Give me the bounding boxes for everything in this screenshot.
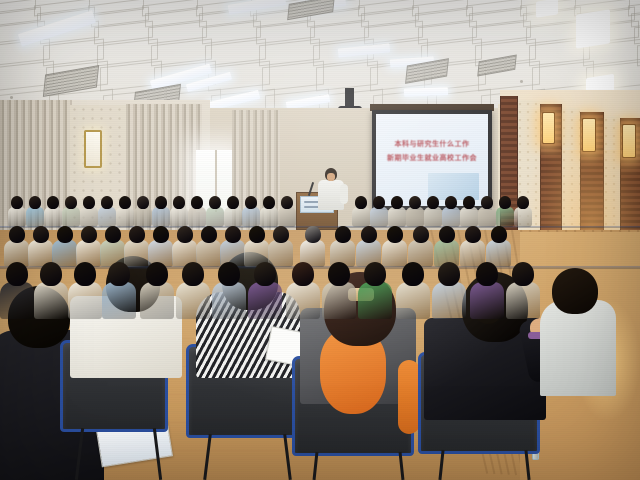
person-head — [445, 196, 457, 209]
person-body — [460, 207, 478, 227]
person-body — [470, 282, 504, 319]
ceiling-tile — [532, 61, 594, 92]
person-head — [108, 262, 130, 286]
person-body — [188, 207, 206, 227]
person-body — [98, 207, 116, 227]
person-body — [382, 240, 407, 267]
person-head — [409, 196, 421, 209]
person-body — [260, 207, 278, 227]
person-body — [80, 207, 98, 227]
person-body — [406, 207, 424, 227]
person-body — [44, 207, 62, 227]
person-body — [140, 282, 174, 319]
person-body — [102, 282, 136, 319]
person-body — [278, 207, 296, 227]
person-body — [176, 282, 210, 319]
person-body — [224, 207, 242, 227]
person-head — [209, 196, 221, 209]
person-head — [218, 262, 240, 286]
person-head — [552, 268, 598, 314]
person-body — [514, 207, 532, 227]
person-head — [517, 196, 529, 209]
person-head — [273, 226, 289, 243]
person-head — [173, 196, 185, 209]
person-body — [506, 282, 540, 319]
person-head — [491, 226, 507, 243]
person-head — [465, 226, 481, 243]
person-body — [496, 207, 514, 227]
person-body — [424, 207, 442, 227]
person-head — [33, 226, 49, 243]
person-head — [101, 196, 113, 209]
person-head — [328, 262, 350, 286]
person-head — [512, 262, 534, 286]
orange-sleeve — [398, 360, 420, 434]
person-head — [481, 196, 493, 209]
person-head — [227, 196, 239, 209]
person-body — [26, 207, 44, 227]
person-body — [34, 282, 68, 319]
person-body — [0, 282, 34, 319]
person-body — [196, 240, 221, 267]
person-head — [182, 262, 204, 286]
person-head — [74, 262, 96, 286]
person-body — [8, 207, 26, 227]
person-head — [391, 196, 403, 209]
person-head — [439, 226, 455, 243]
sprinkler-head — [10, 96, 13, 99]
person-body — [478, 207, 496, 227]
person-head — [438, 262, 460, 286]
person-body — [540, 300, 616, 396]
square-panel-light — [576, 9, 610, 48]
person-head — [463, 196, 475, 209]
person-head — [146, 262, 168, 286]
person-head — [245, 196, 257, 209]
speaker-arm — [340, 184, 348, 204]
person-head — [305, 226, 321, 243]
person-head — [9, 226, 25, 243]
person-head — [119, 196, 131, 209]
person-head — [11, 196, 23, 209]
person-body — [370, 207, 388, 227]
person-body — [286, 282, 320, 319]
person-body — [432, 282, 466, 319]
person-head — [105, 226, 121, 243]
person-head — [129, 226, 145, 243]
conference-hall-photo: 本科与研究生什么工作 新期毕业生就业高校工作会 — [0, 0, 640, 480]
person-body — [322, 282, 356, 319]
projection-screen[interactable]: 本科与研究生什么工作 新期毕业生就业高校工作会 — [376, 114, 488, 206]
person-head — [47, 196, 59, 209]
person-head — [6, 262, 28, 286]
person-body — [442, 207, 460, 227]
person-head — [427, 196, 439, 209]
person-head — [57, 226, 73, 243]
person-body — [68, 282, 102, 319]
person-body — [268, 240, 293, 267]
ceiling-tile — [262, 61, 324, 92]
person-body — [62, 207, 80, 227]
vertical-sconce-icon — [542, 112, 555, 144]
person-head — [155, 196, 167, 209]
person-body — [124, 240, 149, 267]
person-head — [83, 196, 95, 209]
person-head — [335, 226, 351, 243]
person-head — [177, 226, 193, 243]
person-body — [134, 207, 152, 227]
person-body — [388, 207, 406, 227]
person-head — [387, 226, 403, 243]
slide-title-line-1: 本科与研究生什么工作 — [385, 139, 479, 149]
person-head — [40, 262, 62, 286]
person-head — [191, 196, 203, 209]
person-body — [358, 282, 392, 319]
person-body — [152, 207, 170, 227]
person-head — [201, 226, 217, 243]
person-head — [402, 262, 424, 286]
person-body — [352, 207, 370, 227]
sprinkler-head — [520, 80, 523, 83]
person-head — [29, 196, 41, 209]
person-head — [81, 226, 97, 243]
person-head — [263, 196, 275, 209]
person-head — [137, 196, 149, 209]
person-head — [292, 262, 314, 286]
person-body — [170, 207, 188, 227]
person-head — [361, 226, 377, 243]
person-head — [254, 262, 276, 286]
person-head — [413, 226, 429, 243]
person-body — [242, 207, 260, 227]
person-head — [65, 196, 77, 209]
person-body — [396, 282, 430, 319]
person-head — [364, 262, 386, 286]
person-head — [476, 262, 498, 286]
person-body — [206, 207, 224, 227]
person-head — [225, 226, 241, 243]
fluorescent-panel-light — [404, 87, 448, 97]
person-head — [281, 196, 293, 209]
ceiling-tile — [316, 61, 378, 92]
person-body — [116, 207, 134, 227]
person-head — [249, 226, 265, 243]
slide-title-line-2: 新期毕业生就业高校工作会 — [385, 153, 479, 163]
projection-screen-frame[interactable]: 本科与研究生什么工作 新期毕业生就业高校工作会 — [372, 110, 492, 210]
vertical-sconce-icon — [582, 118, 596, 152]
person-head — [355, 196, 367, 209]
person-head — [373, 196, 385, 209]
person-body — [248, 282, 282, 319]
person-head — [153, 226, 169, 243]
speaker-face — [327, 173, 335, 181]
wall-sconce-icon — [84, 130, 102, 168]
person-head — [499, 196, 511, 209]
person-body — [212, 282, 246, 319]
